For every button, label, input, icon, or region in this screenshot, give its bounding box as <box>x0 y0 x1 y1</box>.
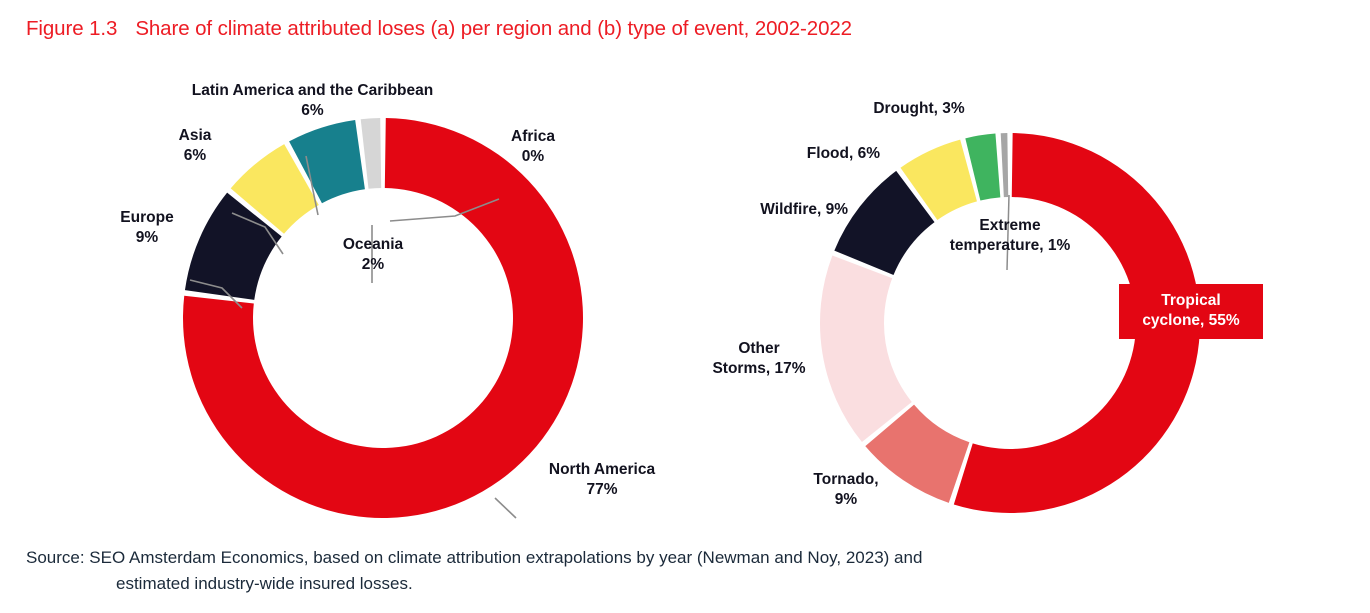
label-latin-america: Latin America and the Caribbean 6% <box>155 81 470 121</box>
label-oceania: Oceania 2% <box>312 235 434 275</box>
label-asia: Asia 6% <box>150 126 240 166</box>
label-africa: Africa 0% <box>485 127 581 167</box>
donut-chart-region <box>183 118 583 518</box>
label-flood: Flood, 6% <box>760 144 880 164</box>
source-line-1: Source: SEO Amsterdam Economics, based o… <box>26 548 922 567</box>
label-tornado: Tornado, 9% <box>793 470 899 510</box>
figure-title: Figure 1.3Share of climate attributed lo… <box>26 17 852 41</box>
label-tropical-cyclone: Tropical cyclone, 55% <box>1119 284 1263 339</box>
label-extreme-temperature: Extreme temperature, 1% <box>920 216 1100 256</box>
label-other-storms: Other Storms, 17% <box>697 339 821 379</box>
figure-page: Figure 1.3Share of climate attributed lo… <box>0 0 1370 613</box>
donut-slice <box>361 118 381 189</box>
label-europe: Europe 9% <box>104 208 190 248</box>
charts-area: Latin America and the Caribbean 6% Asia … <box>0 55 1370 535</box>
figure-title-text: Share of climate attributed loses (a) pe… <box>135 17 852 40</box>
label-north-america: North America 77% <box>522 460 682 500</box>
leader-line-north-america <box>495 498 516 518</box>
label-wildfire: Wildfire, 9% <box>698 200 848 220</box>
donut-slice <box>820 256 912 443</box>
figure-number: Figure 1.3 <box>26 17 117 40</box>
source-line-2: estimated industry-wide insured losses. <box>26 571 1351 597</box>
donut-slice <box>1001 133 1009 197</box>
source-note: Source: SEO Amsterdam Economics, based o… <box>26 545 1351 598</box>
label-drought: Drought, 3% <box>848 99 990 119</box>
